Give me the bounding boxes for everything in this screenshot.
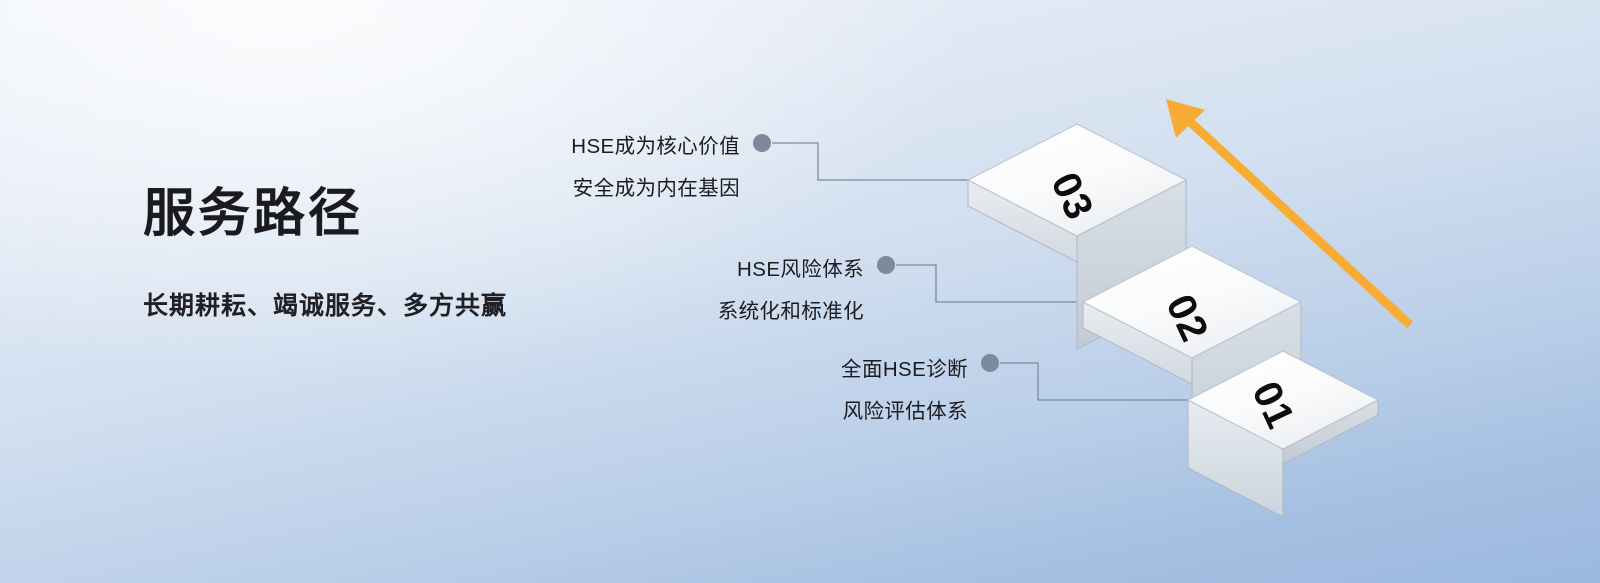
slide-canvas: 服务路径 长期耕耘、竭诚服务、多方共赢 HSE成为核心价值 安全成为内在基因 H… xyxy=(0,0,1600,583)
connector-path-03 xyxy=(772,143,968,180)
connector-dot-03 xyxy=(753,134,771,152)
connector-dots xyxy=(753,134,999,372)
connector-dot-01 xyxy=(981,354,999,372)
connector-dot-02 xyxy=(877,256,895,274)
connector-path-01 xyxy=(1000,363,1188,400)
isometric-staircase-graphic: 03 02 01 xyxy=(0,0,1600,583)
